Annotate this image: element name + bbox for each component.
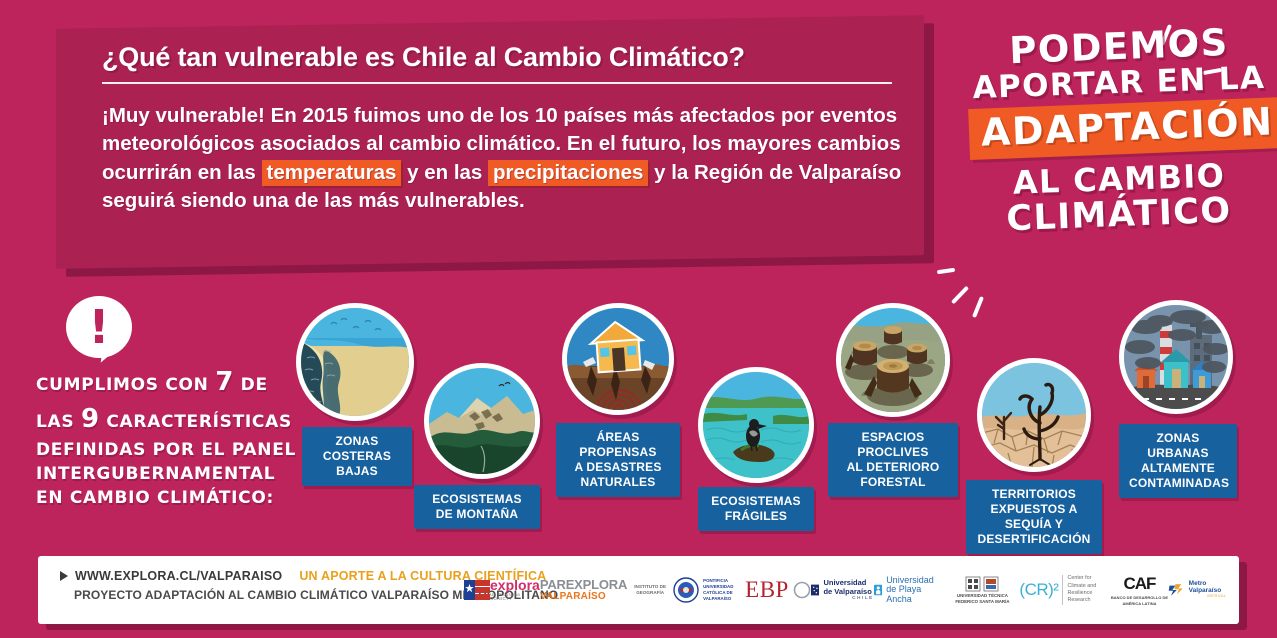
exclamation-mark: ! [66,296,132,358]
mountain-icon [424,363,540,479]
callout-text: CUMPLIMOS CON 7 DE LAS 9 CARACTERÍSTICAS… [36,364,306,510]
logo-caf-sub: BANCO DE DESARROLLO DE AMÉRICA LATINA [1110,595,1168,605]
label-areas-propensas-desastres: ÁREAS PROPENSAS A DESASTRES NATURALES [556,423,680,497]
logo-cr2: (CR)² Center for Climate and Resilience … [1019,575,1110,604]
characteristic-areas-propensas-desastres: ÁREAS PROPENSAS A DESASTRES NATURALES [562,303,674,415]
logo-metro-valparaiso: Metro Valparaíso MERVAL [1168,580,1227,600]
body-text-part-2: y en las [401,161,488,184]
characteristic-espacios-proclives-deterioro-forestal: ESPACIOS PROCLIVES AL DETERIORO FORESTAL [836,303,950,417]
logo-upla-name: Universidad de Playa Ancha [886,576,945,604]
logo-metro-sub: MERVAL [1189,594,1227,598]
logo-parexplora-sub: VALPARAÍSO [540,592,627,603]
logo-ebp-name: EBP [745,577,789,603]
headline-line-3: ADAPTACIÓN [980,103,1274,153]
logo-pucv: PONTIFICIA UNIVERSIDAD CATÓLICA DE VALPA… [673,577,745,603]
logo-parexplora-name: PAREXPLORA [540,578,627,592]
logo-explora-sub: Un Programa CONICYT [490,593,540,602]
drought-icon [977,358,1091,472]
logo-pucv-name: PONTIFICIA UNIVERSIDAD CATÓLICA DE VALPA… [703,578,745,602]
callout-number-9: 9 [81,404,100,434]
sparkle-icon [972,296,984,318]
logo-usm: UNIVERSIDAD TÉCNICA FEDERICO SANTA MARÍA [945,576,1019,604]
highlight-temperaturas: temperaturas [262,160,402,186]
characteristic-zonas-urbanas-contaminadas: ZONAS URBANAS ALTAMENTE CONTAMINADAS [1119,300,1233,414]
sparkle-icon [937,268,955,274]
logo-caf: CAF BANCO DE DESARROLLO DE AMÉRICA LATIN… [1110,574,1168,605]
label-espacios-proclives-deterioro-forestal: ESPACIOS PROCLIVES AL DETERIORO FORESTAL [828,423,958,497]
characteristic-territorios-sequia: TERRITORIOS EXPUESTOS A SEQUÍA Y DESERTI… [977,358,1091,472]
characteristic-ecosistemas-fragiles: ECOSISTEMAS FRÁGILES [698,367,814,483]
callout-number-7: 7 [215,367,234,397]
label-ecosistemas-de-montana: ECOSISTEMAS DE MONTAÑA [414,485,540,529]
logo-instituto-geografia-name: INSTITUTO DE GEOGRAFÍA [627,584,673,596]
characteristic-zonas-costeras-bajas: ZONAS COSTERAS BAJAS [296,303,414,421]
beach-icon [296,303,414,421]
logo-usm-name: UNIVERSIDAD TÉCNICA FEDERICO SANTA MARÍA [945,593,1019,604]
logo-cr2-sub: Center for Climate and Resilience Resear… [1062,575,1110,604]
label-ecosistemas-fragiles: ECOSISTEMAS FRÁGILES [698,487,814,531]
logo-explora-name: explora [490,578,540,593]
tree-stumps-icon [836,303,950,417]
panel-body-text: ¡Muy vulnerable! En 2015 fuimos uno de l… [102,102,902,215]
logo-upla: Universidad de Playa Ancha [874,576,946,604]
logo-ebp: EBP [745,577,811,603]
footer-url[interactable]: WWW.EXPLORA.CL/VALPARAISO [75,569,282,583]
headline-adaptacion-banner: ADAPTACIÓN [968,97,1277,160]
exclamation-bubble-icon: ! [66,296,132,358]
logo-universidad-valparaiso: Universidad de Valparaíso CHILE [811,579,874,601]
footer-bar: WWW.EXPLORA.CL/VALPARAISO UN APORTE A LA… [38,556,1239,624]
label-zonas-urbanas-contaminadas: ZONAS URBANAS ALTAMENTE CONTAMINADAS [1119,424,1237,498]
logo-parexplora: PAREXPLORA VALPARAÍSO [540,578,627,602]
headline-panel: ¿Qué tan vulnerable es Chile al Cambio C… [56,15,924,269]
play-triangle-icon [60,571,68,581]
earthquake-house-icon [562,303,674,415]
logo-caf-name: CAF [1123,574,1155,594]
sparkle-icon [951,286,969,305]
campaign-headline: PODEMOS APORTAR EN LA ADAPTACIÓN AL CAMB… [969,28,1269,233]
highlight-precipitaciones: precipitaciones [488,160,648,186]
logo-explora: explora Un Programa CONICYT [490,578,540,602]
logo-gobierno-chile [464,580,490,600]
headline-line-5: CLIMÁTICO [968,192,1269,239]
title-divider [102,82,892,84]
label-territorios-sequia: TERRITORIOS EXPUESTOS A SEQUÍA Y DESERTI… [966,480,1102,554]
callout-part-a: CUMPLIMOS CON [36,375,215,395]
sponsor-logos: explora Un Programa CONICYT PAREXPLORA V… [458,556,1233,624]
infographic-canvas: ¿Qué tan vulnerable es Chile al Cambio C… [0,0,1277,638]
wetland-bird-icon [698,367,814,483]
polluted-city-icon [1119,300,1233,414]
characteristic-ecosistemas-de-montana: ECOSISTEMAS DE MONTAÑA [424,363,540,479]
logo-uv-sub: CHILE [823,596,873,601]
logo-cr2-name: (CR)² [1019,580,1058,600]
logo-instituto-geografia: INSTITUTO DE GEOGRAFÍA [627,584,673,596]
label-zonas-costeras-bajas: ZONAS COSTERAS BAJAS [302,427,412,486]
logo-uv-name: Universidad de Valparaíso [823,579,873,596]
page-title: ¿Qué tan vulnerable es Chile al Cambio C… [102,42,882,73]
